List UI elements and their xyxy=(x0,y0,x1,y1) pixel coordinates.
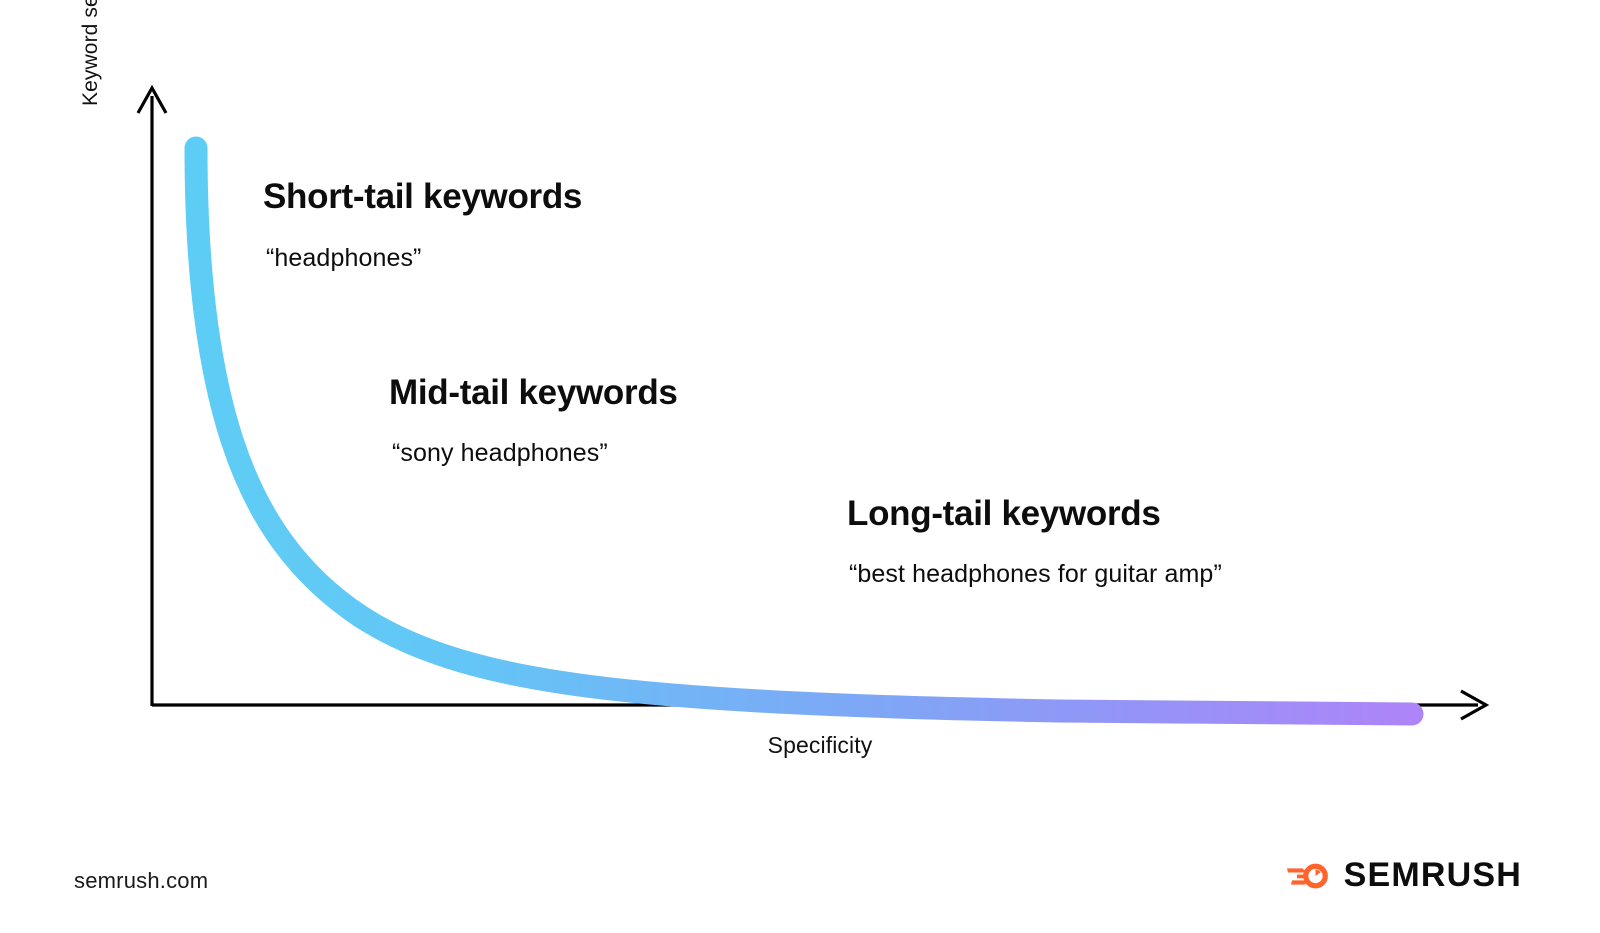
y-axis xyxy=(138,88,166,706)
annotation-mid-tail: Mid-tail keywords “sony headphones” xyxy=(389,374,678,468)
annotation-short-tail-example: “headphones” xyxy=(266,243,582,273)
annotation-mid-tail-title: Mid-tail keywords xyxy=(389,374,678,413)
footer: semrush.com SEMRUSH xyxy=(0,820,1600,933)
semrush-comet-icon-svg xyxy=(1286,860,1330,892)
footer-source-url: semrush.com xyxy=(74,868,208,894)
keyword-demand-curve-chart: Keyword search volume and competition Sp… xyxy=(0,0,1600,800)
annotation-mid-tail-example: “sony headphones” xyxy=(392,438,678,468)
annotation-long-tail-example: “best headphones for guitar amp” xyxy=(849,559,1222,589)
x-axis-title-text: Specificity xyxy=(768,732,873,758)
annotation-long-tail-title: Long-tail keywords xyxy=(847,495,1222,534)
x-axis-title: Specificity xyxy=(600,732,1040,759)
y-axis-title-text: Keyword search volume and competition xyxy=(79,0,103,106)
annotation-short-tail-title: Short-tail keywords xyxy=(263,178,582,217)
semrush-logo: SEMRUSH xyxy=(1286,856,1522,895)
chart-svg xyxy=(0,0,1600,800)
y-axis-title: Keyword search volume and competition xyxy=(71,0,111,195)
semrush-wordmark: SEMRUSH xyxy=(1344,856,1522,895)
annotation-long-tail: Long-tail keywords “best headphones for … xyxy=(847,495,1222,589)
infographic-page: Keyword search volume and competition Sp… xyxy=(0,0,1600,933)
semrush-comet-icon xyxy=(1286,860,1330,892)
annotation-short-tail: Short-tail keywords “headphones” xyxy=(263,178,582,273)
